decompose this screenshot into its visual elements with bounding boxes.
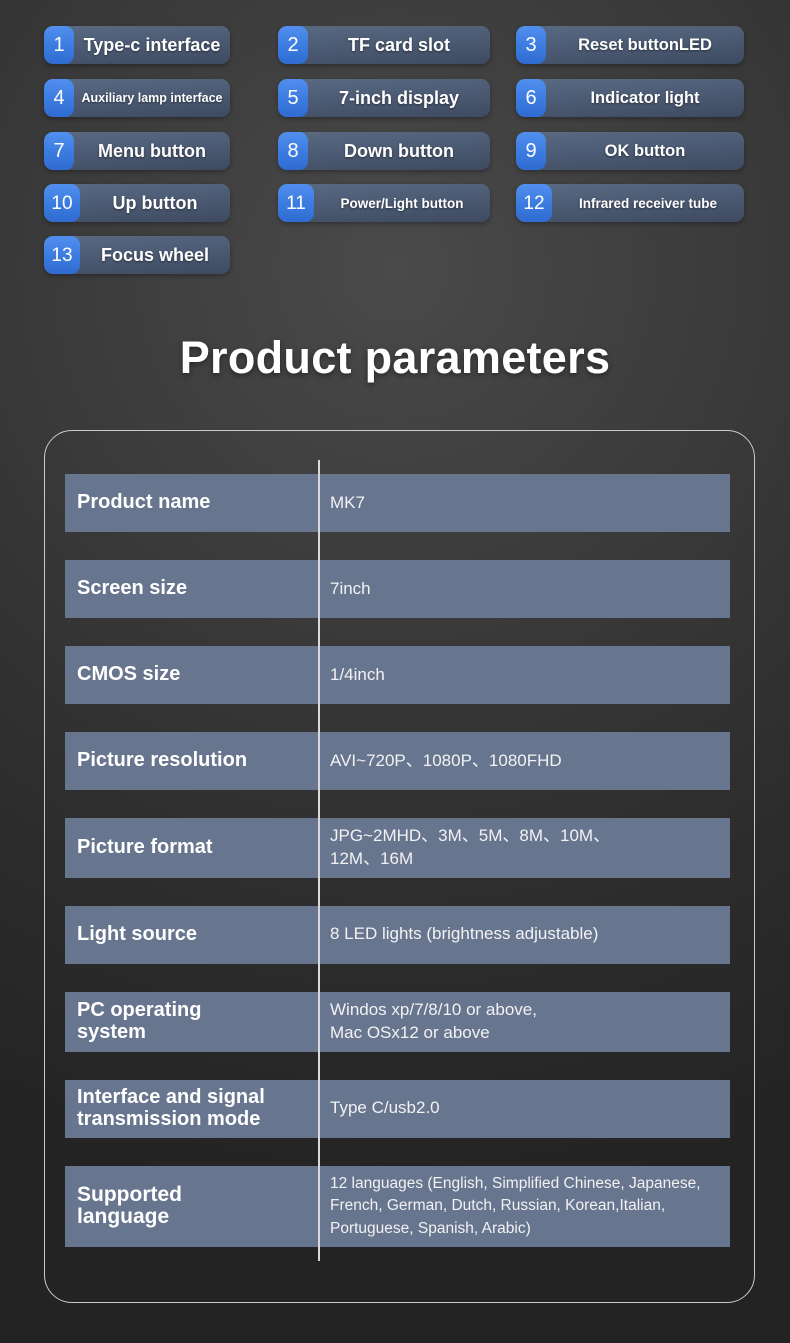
- spec-value: 7inch: [318, 560, 730, 618]
- column-divider: [318, 546, 320, 632]
- legend-badge-number: 1: [44, 26, 74, 64]
- legend-badge-8: 8Down button: [278, 132, 490, 170]
- column-divider: [318, 718, 320, 804]
- spec-value: 1/4inch: [318, 646, 730, 704]
- spec-value: JPG~2MHD、3M、5M、8M、10M、 12M、16M: [318, 818, 730, 878]
- legend-badge-5: 57-inch display: [278, 79, 490, 117]
- table-row: Interface and signal transmission modeTy…: [65, 1080, 730, 1138]
- column-divider: [318, 978, 320, 1066]
- legend-badge-number: 6: [516, 79, 546, 117]
- legend-badge-4: 4Auxiliary lamp interface: [44, 79, 230, 117]
- table-row: PC operating systemWindos xp/7/8/10 or a…: [65, 992, 730, 1052]
- spec-table: Product nameMK7Screen size7inchCMOS size…: [65, 474, 730, 1275]
- legend-badge-11: 11Power/Light button: [278, 184, 490, 222]
- spec-value: 8 LED lights (brightness adjustable): [318, 906, 730, 964]
- legend-badge-number: 2: [278, 26, 308, 64]
- legend-badge-number: 4: [44, 79, 74, 117]
- legend-badge-number: 11: [278, 184, 314, 222]
- table-row: CMOS size1/4inch: [65, 646, 730, 704]
- legend-badge-2: 2TF card slot: [278, 26, 490, 64]
- legend-badge-label: 7-inch display: [308, 88, 490, 109]
- table-row: Light source8 LED lights (brightness adj…: [65, 906, 730, 964]
- column-divider: [318, 632, 320, 718]
- legend-badge-number: 8: [278, 132, 308, 170]
- legend-badge-6: 6Indicator light: [516, 79, 744, 117]
- spec-value: 12 languages (English, Simplified Chines…: [318, 1166, 730, 1247]
- legend-badge-label: Auxiliary lamp interface: [74, 91, 230, 105]
- column-divider: [318, 1152, 320, 1261]
- legend-badge-number: 12: [516, 184, 552, 222]
- legend-badge-number: 5: [278, 79, 308, 117]
- table-row: Product nameMK7: [65, 474, 730, 532]
- spec-label: Screen size: [65, 560, 318, 618]
- legend-badge-number: 10: [44, 184, 80, 222]
- spec-label: PC operating system: [65, 992, 318, 1052]
- legend-badge-3: 3Reset buttonLED: [516, 26, 744, 64]
- legend-badge-label: Type-c interface: [74, 35, 230, 56]
- legend-badge-number: 7: [44, 132, 74, 170]
- spec-value: Windos xp/7/8/10 or above, Mac OSx12 or …: [318, 992, 730, 1052]
- table-row: Screen size7inch: [65, 560, 730, 618]
- legend-badge-number: 13: [44, 236, 80, 274]
- legend-badge-number: 3: [516, 26, 546, 64]
- spec-label: Interface and signal transmission mode: [65, 1080, 318, 1138]
- legend-badge-label: Down button: [308, 141, 490, 162]
- table-row: Picture formatJPG~2MHD、3M、5M、8M、10M、 12M…: [65, 818, 730, 878]
- product-spec-page: 1Type-c interface2TF card slot3Reset but…: [0, 0, 790, 1343]
- legend-badge-7: 7Menu button: [44, 132, 230, 170]
- column-divider: [318, 892, 320, 978]
- spec-label: Picture resolution: [65, 732, 318, 790]
- table-row: Picture resolutionAVI~720P、1080P、1080FHD: [65, 732, 730, 790]
- spec-label: Supported language: [65, 1166, 318, 1247]
- legend-badge-label: OK button: [546, 142, 744, 161]
- table-row: Supported language12 languages (English,…: [65, 1166, 730, 1247]
- spec-label: Product name: [65, 474, 318, 532]
- column-divider: [318, 1066, 320, 1152]
- legend-badge-label: Up button: [80, 193, 230, 214]
- legend-badge-12: 12Infrared receiver tube: [516, 184, 744, 222]
- legend-badge-label: Reset buttonLED: [546, 36, 744, 55]
- legend-badge-number: 9: [516, 132, 546, 170]
- column-divider: [318, 804, 320, 892]
- legend-badge-label: TF card slot: [308, 35, 490, 56]
- legend-badge-label: Indicator light: [546, 89, 744, 108]
- legend-badge-1: 1Type-c interface: [44, 26, 230, 64]
- legend-badge-label: Power/Light button: [314, 196, 490, 211]
- column-divider: [318, 460, 320, 546]
- legend-badge-label: Infrared receiver tube: [552, 196, 744, 211]
- spec-value: MK7: [318, 474, 730, 532]
- legend-badge-13: 13Focus wheel: [44, 236, 230, 274]
- spec-value: Type C/usb2.0: [318, 1080, 730, 1138]
- spec-label: Light source: [65, 906, 318, 964]
- legend-badge-9: 9OK button: [516, 132, 744, 170]
- section-title: Product parameters: [0, 332, 790, 384]
- legend-badge-10: 10Up button: [44, 184, 230, 222]
- spec-label: Picture format: [65, 818, 318, 878]
- spec-value: AVI~720P、1080P、1080FHD: [318, 732, 730, 790]
- legend-badge-label: Focus wheel: [80, 245, 230, 266]
- spec-label: CMOS size: [65, 646, 318, 704]
- legend-badge-label: Menu button: [74, 141, 230, 162]
- legend-badge-grid: 1Type-c interface2TF card slot3Reset but…: [0, 0, 790, 300]
